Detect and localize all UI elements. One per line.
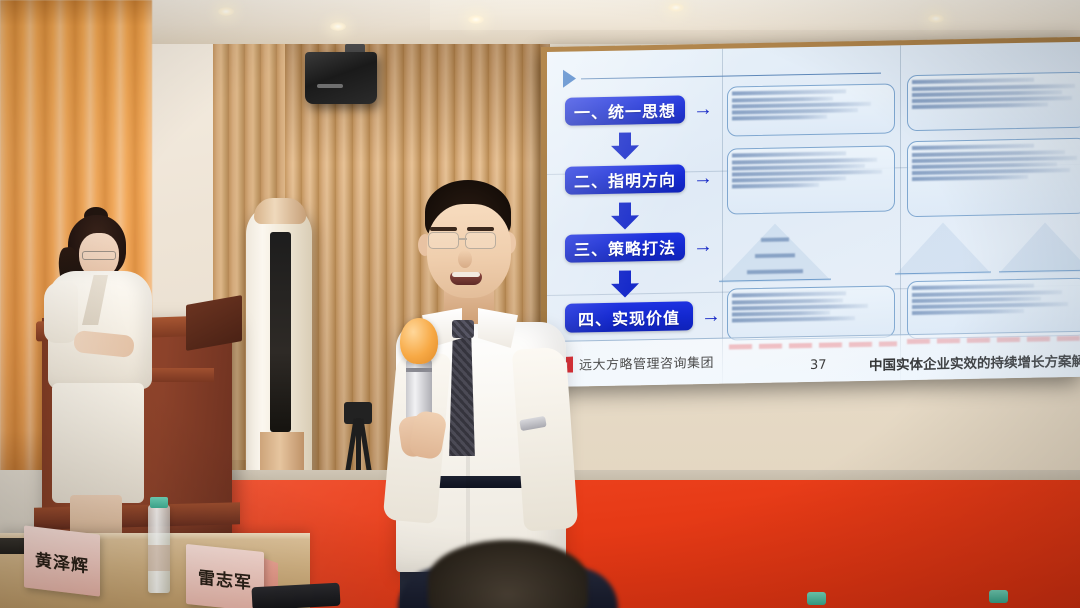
panel-text-line — [912, 175, 1028, 181]
ceiling-recess — [430, 0, 1080, 30]
necktie-knot — [452, 320, 474, 338]
arrow-head — [611, 215, 639, 230]
attendant-skirt — [52, 383, 144, 503]
panel-text-line — [732, 177, 846, 183]
ac-top-cap — [254, 198, 306, 224]
panel-text-line — [732, 316, 855, 322]
step-arrow-4-icon: → — [701, 306, 721, 326]
company-logo-text: 远大方略管理咨询集团 — [579, 352, 714, 374]
led-tile-seam — [722, 49, 723, 384]
glasses-icon — [465, 232, 496, 249]
panel-text-line — [732, 115, 827, 120]
panel-title-line — [912, 144, 1034, 150]
downlight-icon — [668, 3, 684, 12]
slide-pyramid-2 — [895, 222, 991, 276]
ac-vent — [270, 232, 291, 432]
panel-text-line — [732, 108, 858, 114]
presentation-slide: 一、统一思想 → 二、指明方向 → 三、策略打法 → — [547, 42, 1080, 387]
step-chip-1: 一、统一思想 — [565, 95, 685, 125]
panel-text-line — [912, 150, 1065, 156]
panel-title-line — [912, 78, 1034, 84]
step-arrow-2-icon: → — [693, 168, 713, 188]
panel-text-line — [732, 102, 871, 108]
glasses-icon — [428, 232, 459, 249]
led-video-wall-frame: 一、统一思想 → 二、指明方向 → 三、策略打法 → — [541, 37, 1080, 387]
panel-text-line — [912, 297, 1041, 303]
downlight-icon — [330, 22, 346, 31]
panel-text-line — [912, 309, 1024, 315]
slide-panel-2-1 — [727, 145, 895, 214]
wall-speaker-icon — [305, 52, 377, 104]
pyramid-tier-text — [761, 237, 789, 241]
panel-text-line — [732, 183, 819, 188]
panel-text-line — [732, 164, 865, 170]
bottle-cap-icon — [989, 590, 1008, 603]
presenter-teeth — [452, 272, 480, 277]
glasses-bridge — [459, 238, 467, 240]
name-placard-2-text: 雷志军 — [198, 563, 252, 594]
step-arrow-3-icon: → — [693, 236, 713, 256]
panel-text-line — [732, 298, 843, 304]
bottle-cap-icon — [807, 592, 826, 605]
smartphone — [251, 583, 340, 608]
presenter-nose — [458, 250, 472, 268]
panel-title-line — [732, 151, 846, 157]
arrow-head — [611, 283, 639, 298]
name-placard-1: 黄泽辉 — [24, 525, 100, 596]
step-chip-4-label: 四、实现价值 — [578, 304, 680, 330]
panel-title-line — [912, 284, 1034, 290]
panel-text-line — [912, 90, 1062, 96]
slide-panel-3-2 — [907, 278, 1080, 339]
slide-top-rule — [581, 73, 881, 80]
panel-text-line — [912, 103, 1048, 109]
slide-panel-1-2 — [907, 72, 1080, 131]
panel-text-line — [732, 304, 868, 310]
step-chip-1-label: 一、统一思想 — [574, 98, 676, 124]
name-placard-1-text: 黄泽辉 — [35, 545, 89, 577]
slide-pyramid-3 — [999, 222, 1080, 274]
slide-panel-2-2 — [907, 138, 1080, 217]
presenter-eyebrow — [430, 227, 457, 231]
slide-triangle-marker — [563, 70, 576, 88]
microphone-icon — [400, 318, 438, 364]
arrow-head — [611, 145, 639, 160]
slide-footer-title: 中国实体企业实效的持续增长方案解决 — [869, 349, 1080, 373]
downlight-icon — [928, 14, 944, 23]
panel-text-line — [912, 302, 1068, 309]
podium-attendant — [30, 205, 160, 535]
panel-text-line — [732, 170, 882, 176]
conference-room-photo: 一、统一思想 → 二、指明方向 → 三、策略打法 → — [0, 0, 1080, 608]
panel-text-line — [912, 168, 1070, 175]
slide-page-number: 37 — [810, 358, 827, 373]
panel-text-line — [912, 162, 1057, 168]
audience-head — [428, 540, 588, 608]
speaker-slit — [317, 84, 343, 88]
attendant-sleeve — [44, 281, 78, 343]
glasses-icon — [82, 251, 116, 260]
bottle-cap-icon — [150, 497, 168, 508]
panel-text-line — [912, 290, 1062, 296]
floor-standing-air-conditioner — [246, 204, 312, 496]
bottle-label — [148, 545, 170, 571]
panel-text-line — [732, 158, 877, 164]
downlight-icon — [468, 15, 484, 24]
presenter-right-sleeve — [512, 346, 579, 531]
downlight-icon — [218, 7, 234, 16]
slide-panel-3-1 — [727, 285, 895, 340]
slide-panel-1-1 — [727, 83, 895, 136]
led-tile-seam — [900, 45, 901, 380]
curtain-top-shadow — [0, 0, 152, 26]
panel-text-line — [732, 97, 833, 102]
panel-title-line — [732, 89, 846, 95]
microphone-band — [406, 368, 432, 372]
panel-title-line — [732, 291, 846, 297]
step-arrow-1-icon: → — [693, 99, 713, 119]
panel-text-line — [732, 311, 830, 316]
presenter-eyebrow — [467, 227, 494, 231]
